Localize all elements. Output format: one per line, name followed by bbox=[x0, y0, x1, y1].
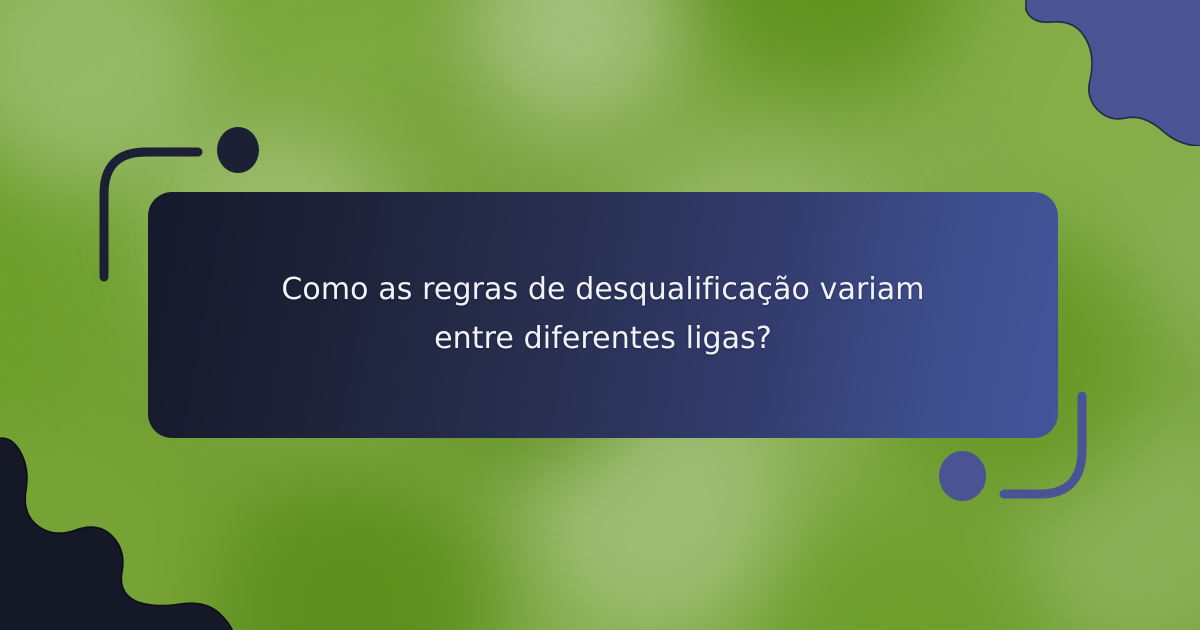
question-card: Como as regras de desqualificação variam… bbox=[148, 192, 1058, 438]
bottom-left-blob bbox=[0, 424, 234, 630]
question-text: Como as regras de desqualificação variam… bbox=[238, 266, 968, 363]
bottom-right-dot-icon bbox=[939, 451, 986, 501]
promo-card-canvas: Como as regras de desqualificação variam… bbox=[0, 0, 1200, 630]
top-right-blob bbox=[992, 0, 1200, 146]
top-left-dot-icon bbox=[217, 127, 259, 173]
